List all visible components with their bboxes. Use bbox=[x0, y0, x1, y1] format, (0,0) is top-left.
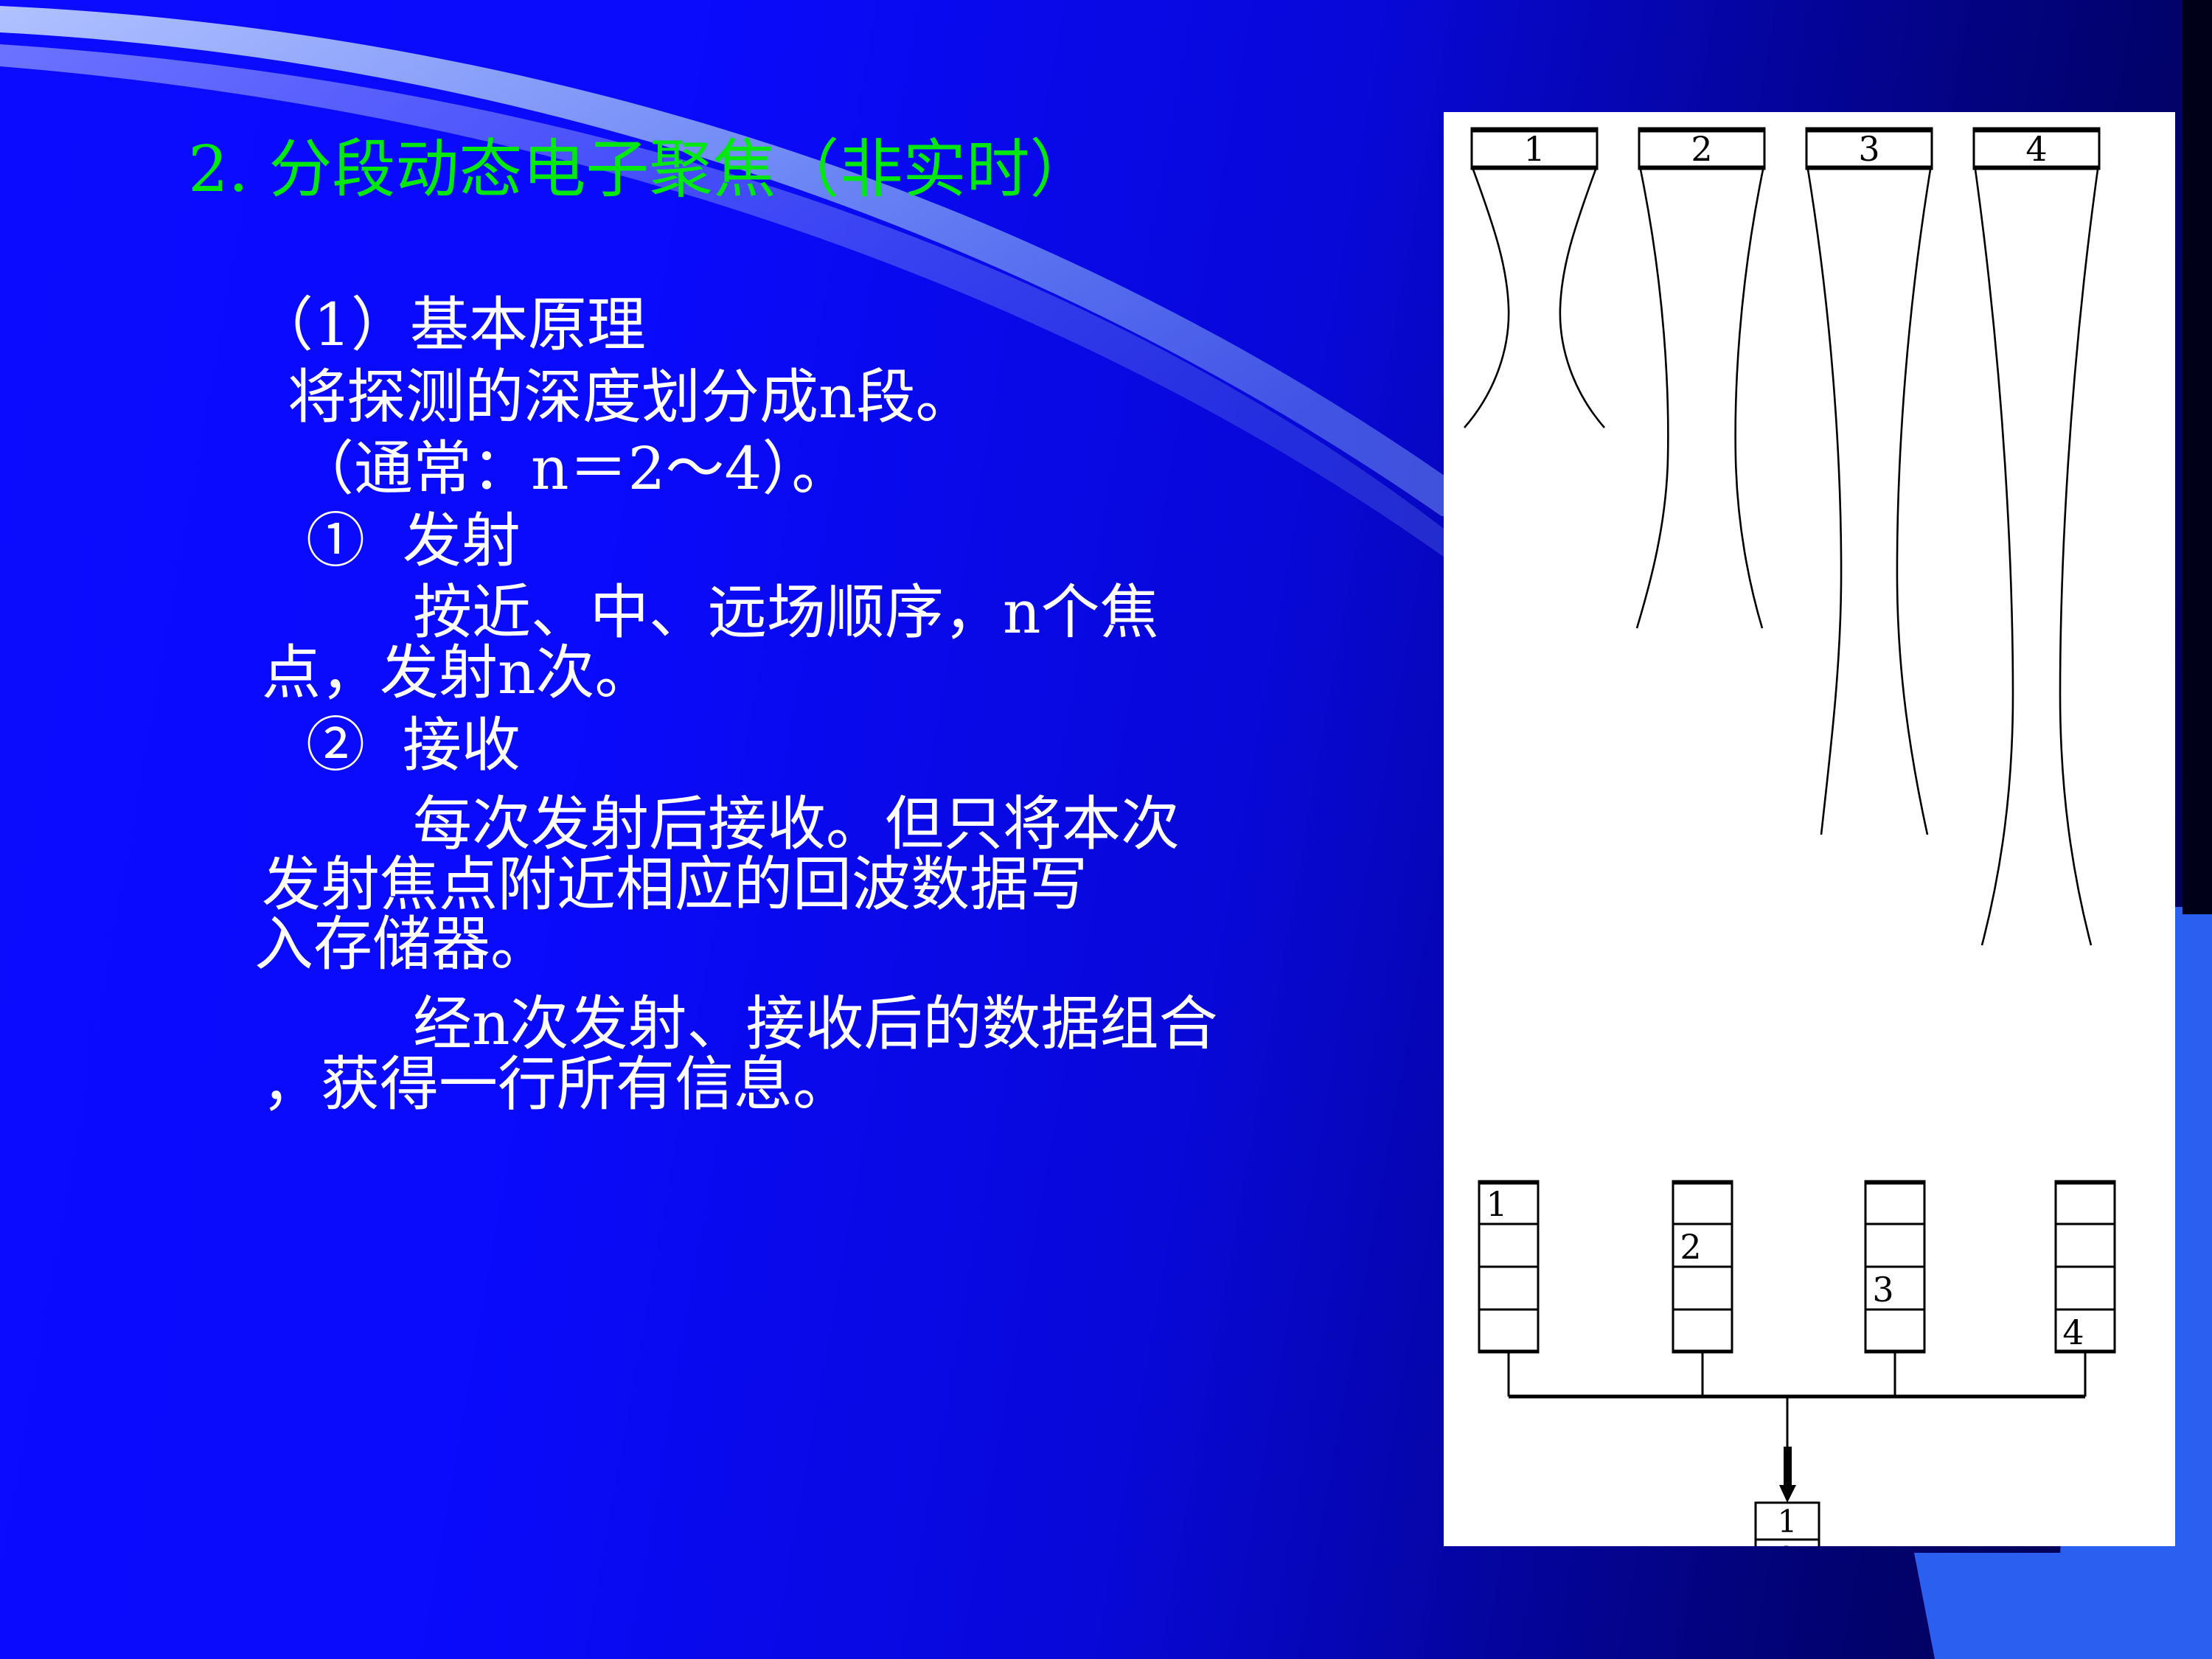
segmented-dynamic-focusing-diagram: 1 2 3 4 bbox=[1444, 112, 2175, 1546]
right-edge-shade bbox=[2183, 0, 2212, 914]
beam-left-edge-1 bbox=[1464, 170, 1509, 428]
beam-right-edge-1 bbox=[1560, 170, 1604, 428]
memory-cell bbox=[1673, 1267, 1732, 1310]
item-transmit: ① 发射 bbox=[0, 511, 1445, 571]
memory-stack-1-label: 1 bbox=[1486, 1184, 1507, 1224]
combined-cell-label-1: 1 bbox=[1778, 1503, 1798, 1540]
arrow-head bbox=[1779, 1485, 1796, 1503]
transducer-labels: 1 2 3 4 bbox=[1523, 129, 2047, 169]
spacer bbox=[0, 703, 1445, 715]
memory-cell bbox=[1479, 1310, 1538, 1352]
memory-cell bbox=[2056, 1267, 2115, 1310]
memory-stack-2 bbox=[1673, 1181, 1732, 1352]
memory-stack-3-label: 3 bbox=[1872, 1270, 1893, 1310]
body-content: （1）基本原理 将探测的深度划分成n段。 （通常：n＝2～4）。 ① 发射 按近… bbox=[0, 295, 1445, 1114]
corner-accent-horizontal bbox=[1914, 1553, 2212, 1659]
memory-cell bbox=[1673, 1310, 1732, 1352]
beam-right-edge-4 bbox=[2060, 170, 2098, 945]
transducer-box-4-label: 4 bbox=[2025, 129, 2047, 169]
transducer-group-2 bbox=[1637, 128, 1764, 628]
beam-left-edge-3 bbox=[1808, 170, 1841, 835]
memory-stack-4-label: 4 bbox=[2062, 1312, 2084, 1352]
memory-cell bbox=[2056, 1224, 2115, 1267]
memory-cell bbox=[1479, 1267, 1538, 1310]
beam-left-edge-2 bbox=[1637, 170, 1668, 628]
beam-right-edge-3 bbox=[1897, 170, 1930, 835]
bus-wiring bbox=[1509, 1353, 2085, 1457]
memory-cell bbox=[1865, 1310, 1924, 1352]
memory-stack-3 bbox=[1865, 1181, 1924, 1352]
arrow-shaft bbox=[1784, 1447, 1792, 1485]
memory-cell bbox=[1865, 1224, 1924, 1267]
beam-left-edge-4 bbox=[1975, 170, 2013, 945]
memory-cell bbox=[1865, 1181, 1924, 1224]
combined-cell-label-2: 2 bbox=[1778, 1540, 1798, 1546]
line-combine-a: 经n次发射、接收后的数据组合 bbox=[0, 994, 1445, 1054]
line-receive-detail-b: 发射焦点附近相应的回波数据写 bbox=[0, 855, 1445, 915]
memory-cell bbox=[1673, 1181, 1732, 1224]
memory-stack-labels: 1 2 3 4 bbox=[1486, 1184, 2084, 1352]
transducer-group-1 bbox=[1464, 128, 1604, 428]
transducer-group-4 bbox=[1974, 128, 2099, 945]
line-combine-b: ，获得一行所有信息。 bbox=[0, 1054, 1445, 1115]
line-transmit-detail-a: 按近、中、远场顺序，n个焦 bbox=[0, 582, 1445, 643]
heading-basic-principle: （1）基本原理 bbox=[0, 295, 1445, 355]
transducer-group-3 bbox=[1806, 128, 1932, 835]
transducer-box-3-label: 3 bbox=[1858, 129, 1879, 169]
beam-right-edge-2 bbox=[1736, 170, 1763, 628]
memory-cell bbox=[1479, 1224, 1538, 1267]
item-receive: ② 接收 bbox=[0, 715, 1445, 776]
line-transmit-detail-b: 点，发射n次。 bbox=[0, 643, 1445, 703]
page-title: 2. 分段动态电子聚焦（非实时） bbox=[188, 136, 1093, 203]
memory-stacks bbox=[1479, 1181, 2115, 1352]
line-typical-n: （通常：n＝2～4）。 bbox=[0, 439, 1445, 499]
text-column: 2. 分段动态电子聚焦（非实时） （1）基本原理 将探测的深度划分成n段。 （通… bbox=[0, 0, 1445, 1659]
bus-arrow-icon bbox=[1779, 1447, 1796, 1503]
memory-stack-2-label: 2 bbox=[1680, 1227, 1701, 1267]
diagram-panel: 1 2 3 4 bbox=[1444, 112, 2175, 1546]
transducer-box-1-label: 1 bbox=[1523, 129, 1545, 169]
transducer-box-2-label: 2 bbox=[1691, 129, 1712, 169]
memory-cell bbox=[2056, 1181, 2115, 1224]
line-divide-depth: 将探测的深度划分成n段。 bbox=[0, 367, 1445, 428]
combined-stack-labels: 1 2 3 4 bbox=[1778, 1503, 1798, 1546]
presentation-slide: 2. 分段动态电子聚焦（非实时） （1）基本原理 将探测的深度划分成n段。 （通… bbox=[0, 0, 2212, 1659]
line-receive-detail-c: 入存储器。 bbox=[0, 914, 1445, 975]
line-receive-detail-a: 每次发射后接收。但只将本次 bbox=[0, 794, 1445, 855]
